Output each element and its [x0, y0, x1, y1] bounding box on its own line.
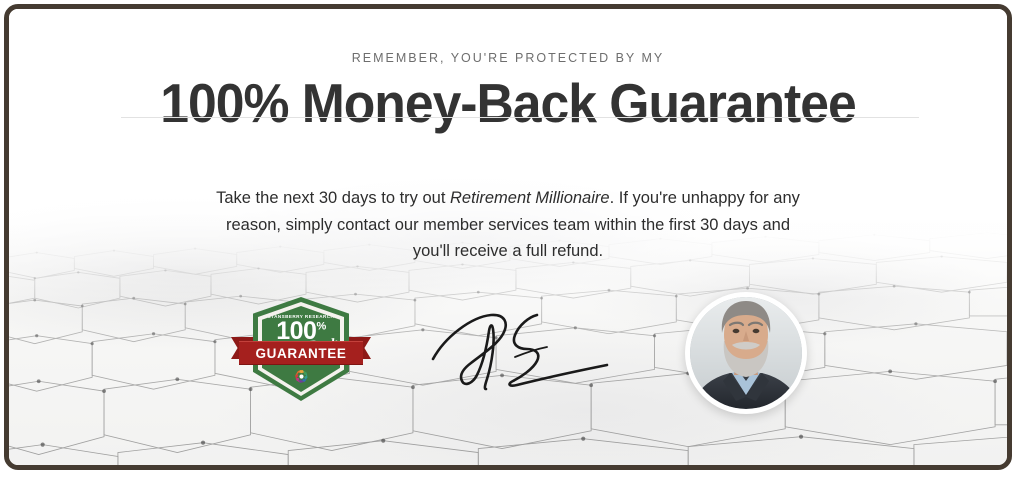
- portrait-illustration: [690, 297, 802, 409]
- badge-ribbon-label: GUARANTEE: [256, 346, 347, 361]
- product-name: Retirement Millionaire: [450, 189, 610, 207]
- guarantee-card: REMEMBER, YOU'RE PROTECTED BY MY 100% Mo…: [4, 4, 1012, 470]
- money-back-guarantee-badge: STANSBERRY RESEARCH 100% Money Back GUAR…: [231, 297, 371, 405]
- badge-percent-symbol: %: [316, 321, 325, 333]
- body-line1-post: . If you're: [610, 189, 677, 207]
- avatar: [685, 292, 807, 414]
- page-title: 100% Money-Back Guarantee: [39, 75, 977, 131]
- body-line1-pre: Take the next 30 days to try out: [216, 189, 450, 207]
- eyebrow-text: REMEMBER, YOU'RE PROTECTED BY MY: [9, 51, 1007, 65]
- headline-divider: [121, 117, 919, 118]
- author-portrait-photo: [690, 297, 802, 409]
- guarantee-body-text: Take the next 30 days to try out Retirem…: [208, 185, 808, 265]
- stansberry-hex-logo-icon: [294, 369, 309, 384]
- author-signature: [429, 301, 644, 399]
- badge-ribbon: GUARANTEE: [239, 341, 363, 365]
- header-block: REMEMBER, YOU'RE PROTECTED BY MY 100% Mo…: [9, 51, 1007, 131]
